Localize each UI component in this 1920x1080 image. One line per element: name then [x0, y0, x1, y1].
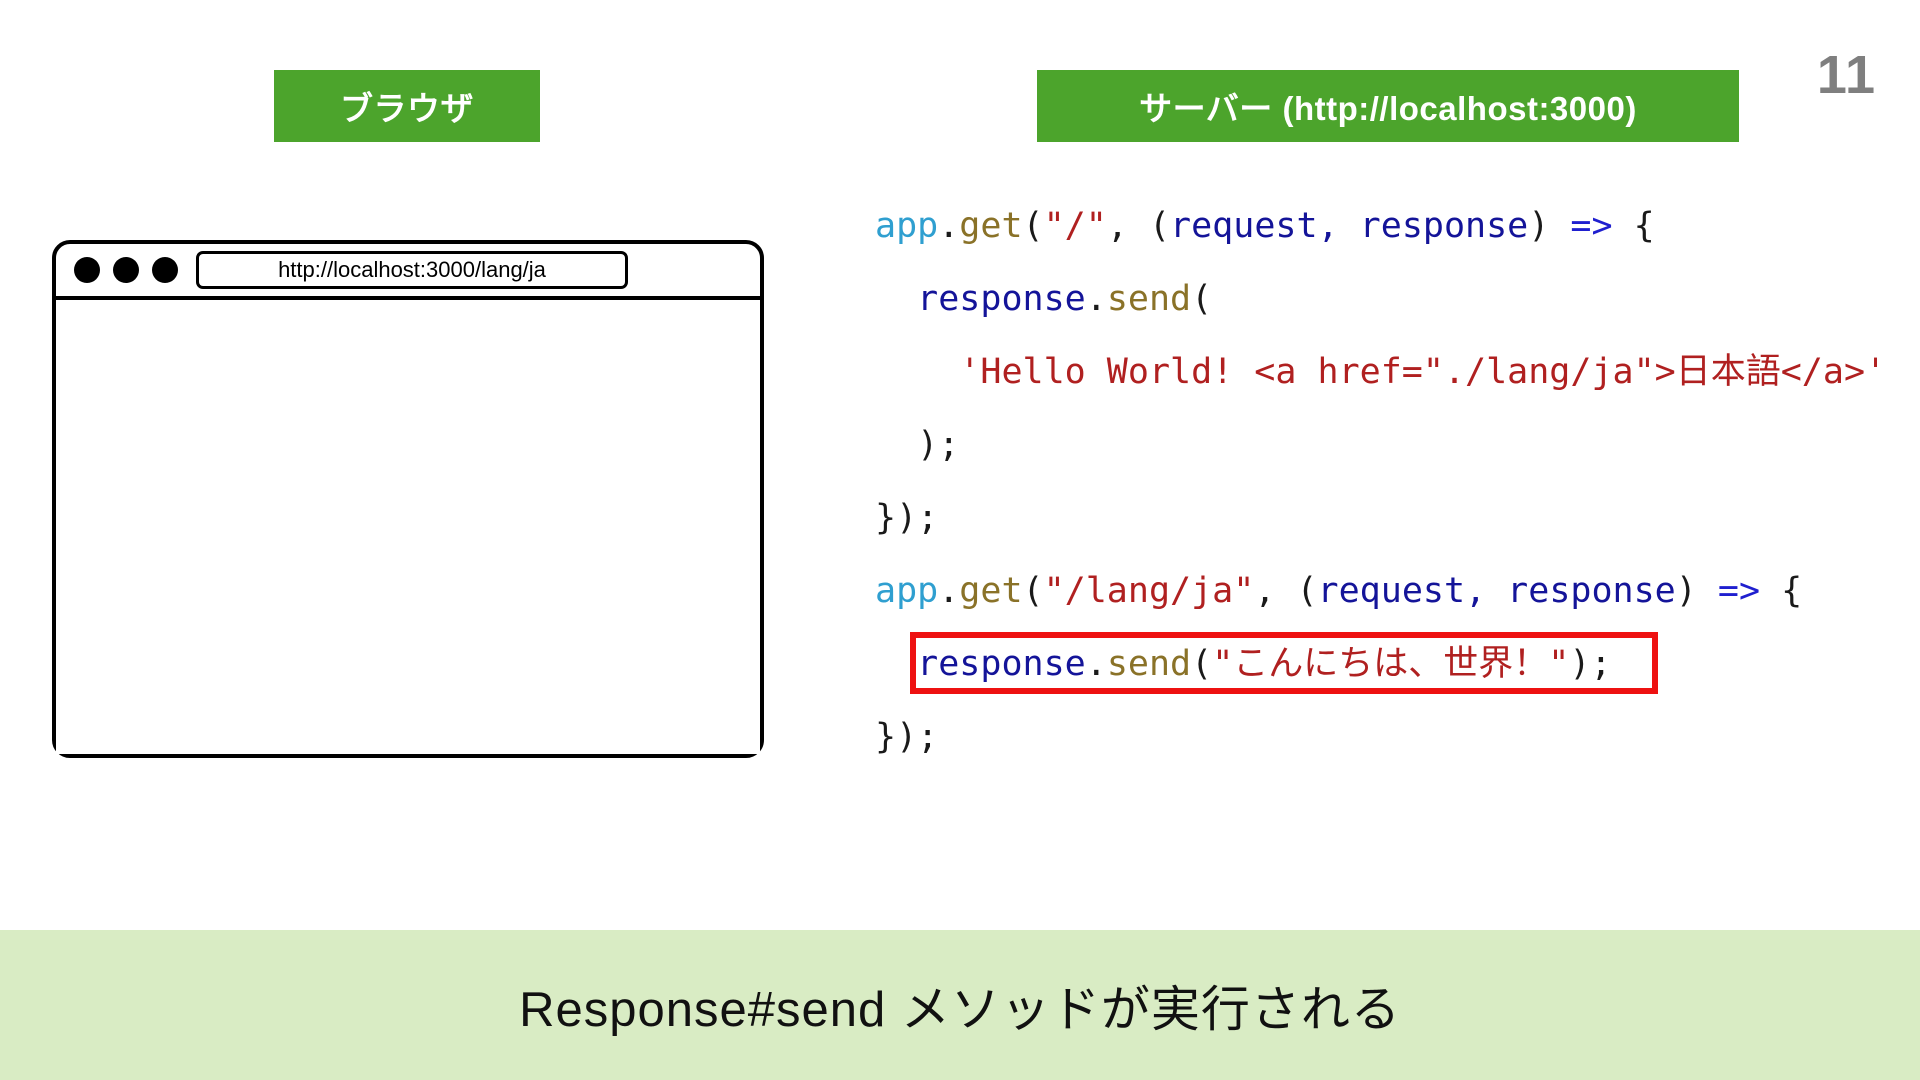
code-token: send — [1107, 279, 1191, 319]
browser-address-bar-value: http://localhost:3000/lang/ja — [278, 257, 546, 283]
code-token: request, response — [1318, 571, 1676, 611]
minimize-dot-icon — [113, 257, 139, 283]
code-token: . — [1086, 279, 1107, 319]
code-token: app — [875, 206, 938, 246]
browser-column-header: ブラウザ — [274, 70, 540, 142]
code-token: , ( — [1254, 571, 1317, 611]
caption-bar: Response#send メソッドが実行される — [0, 930, 1920, 1080]
code-token: , ( — [1107, 206, 1170, 246]
browser-window-mockup: http://localhost:3000/lang/ja — [52, 240, 764, 758]
code-token: { — [1760, 571, 1802, 611]
code-token: app — [875, 571, 938, 611]
code-token: "/" — [1044, 206, 1107, 246]
code-token: 'Hello World! <a href="./lang/ja">日本語</a… — [959, 352, 1886, 392]
browser-viewport — [56, 300, 760, 754]
code-token: ) — [1676, 571, 1718, 611]
code-token — [875, 279, 917, 319]
traffic-light-dots — [74, 257, 178, 283]
code-token: . — [938, 571, 959, 611]
code-token: "/lang/ja" — [1044, 571, 1255, 611]
code-token: => — [1570, 206, 1612, 246]
code-token: get — [959, 206, 1022, 246]
code-line-line-2: response.send( — [875, 263, 1886, 336]
code-line-line-6: app.get("/lang/ja", (request, response) … — [875, 555, 1886, 628]
code-token: . — [938, 206, 959, 246]
code-line-line-4: ); — [875, 409, 1886, 482]
code-token — [875, 352, 959, 392]
code-token: => — [1718, 571, 1760, 611]
code-line-line-3: 'Hello World! <a href="./lang/ja">日本語</a… — [875, 336, 1886, 409]
code-token: ( — [1023, 206, 1044, 246]
code-token: ); — [875, 425, 959, 465]
browser-address-bar[interactable]: http://localhost:3000/lang/ja — [196, 251, 628, 289]
server-column-header-label: サーバー (http://localhost:3000) — [1139, 82, 1637, 130]
code-token: get — [959, 571, 1022, 611]
server-column-header: サーバー (http://localhost:3000) — [1037, 70, 1739, 142]
code-line-line-8: }); — [875, 701, 1886, 774]
code-line-line-1: app.get("/", (request, response) => { — [875, 190, 1886, 263]
code-token: response — [917, 279, 1086, 319]
code-token: request, response — [1170, 206, 1528, 246]
code-token: ( — [1191, 279, 1212, 319]
code-token: { — [1613, 206, 1655, 246]
code-token: ) — [1528, 206, 1570, 246]
maximize-dot-icon — [152, 257, 178, 283]
highlight-box — [910, 632, 1658, 694]
code-line-line-5: }); — [875, 482, 1886, 555]
caption-text: Response#send メソッドが実行される — [519, 970, 1401, 1041]
code-token: }); — [875, 717, 938, 757]
browser-column-header-label: ブラウザ — [340, 82, 474, 130]
code-token: }); — [875, 498, 938, 538]
close-dot-icon — [74, 257, 100, 283]
code-token: ( — [1023, 571, 1044, 611]
page-number: 11 — [1817, 48, 1876, 102]
browser-titlebar: http://localhost:3000/lang/ja — [56, 244, 760, 300]
